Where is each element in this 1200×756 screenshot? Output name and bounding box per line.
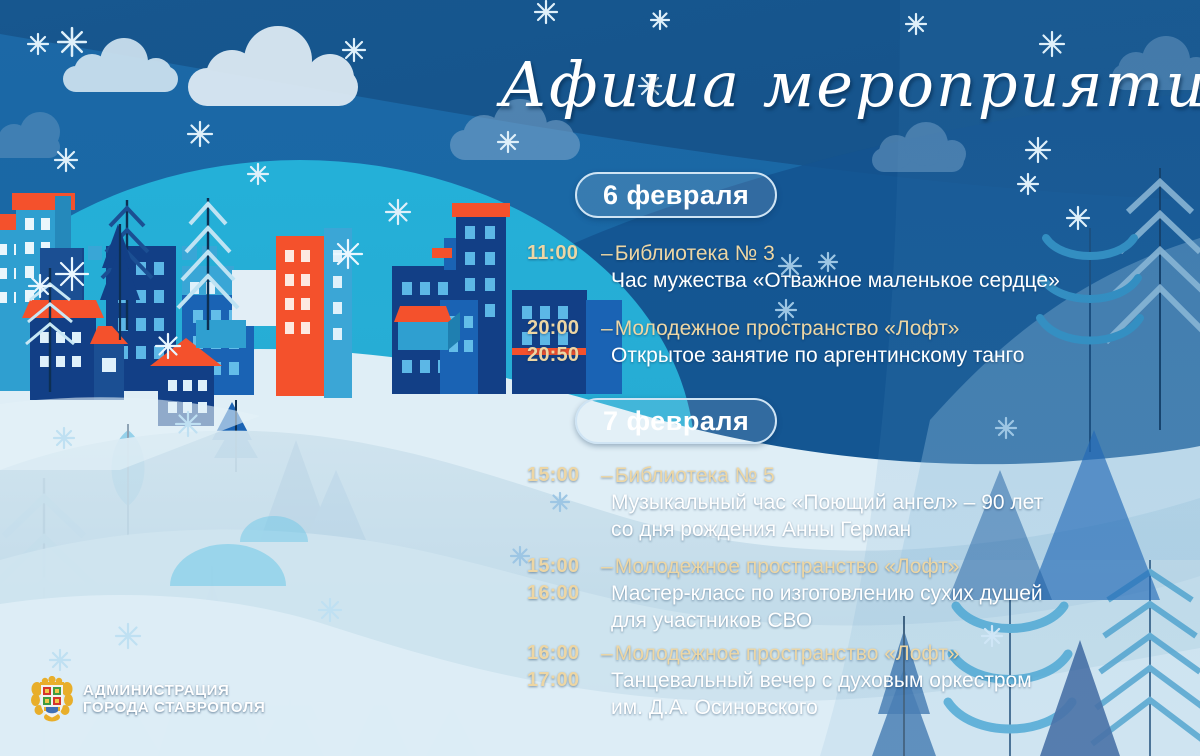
event-description-line: Открытое занятие по аргентинскому танго [611, 342, 1187, 369]
event-item: 15:00 –Библиотека № 5 Музыкальный час «П… [527, 462, 1187, 543]
event-description-line: Час мужества «Отважное маленькое сердце» [611, 267, 1187, 294]
event-description-line: для участников СВО [611, 607, 1187, 634]
event-venue-name: Библиотека № 5 [615, 464, 775, 487]
event-item: 15:00 16:00 –Молодежное пространство «Ло… [527, 553, 1187, 634]
event-times: 16:00 17:00 [527, 640, 601, 694]
event-body: –Молодежное пространство «Лофт» Мастер-к… [601, 553, 1187, 634]
event-body: –Молодежное пространство «Лофт» Танцевал… [601, 640, 1187, 721]
event-venue: –Библиотека № 5 [601, 462, 1187, 489]
event-venue: –Молодежное пространство «Лофт» [601, 640, 1187, 667]
event-time: 11:00 [527, 240, 601, 267]
snowflake-icon [156, 334, 180, 358]
date-badge-feb7[interactable]: 7 февраля [575, 398, 777, 444]
event-time: 17:00 [527, 667, 601, 694]
snowflake-icon [334, 240, 362, 268]
event-description-line: Мастер-класс по изготовлению сухих душей [611, 580, 1187, 607]
snowflake-icon [651, 11, 669, 29]
event-item: 20:00 20:50 –Молодежное пространство «Ло… [527, 315, 1187, 369]
event-description-line: Музыкальный час «Поющий ангел» – 90 лет [611, 489, 1187, 516]
snowflake-icon [1018, 174, 1038, 194]
event-times: 15:00 [527, 462, 601, 489]
event-description: Мастер-класс по изготовлению сухих душей… [601, 580, 1187, 634]
event-venue: –Библиотека № 3 [601, 240, 1187, 267]
event-description-line: им. Д.А. Осиновского [611, 694, 1187, 721]
event-venue: –Молодежное пространство «Лофт» [601, 553, 1187, 580]
administration-logo: АДМИНИСТРАЦИЯ ГОРОДА СТАВРОПОЛЯ [30, 676, 265, 722]
snowflake-icon [50, 650, 70, 670]
event-body: –Молодежное пространство «Лофт» Открытое… [601, 315, 1187, 369]
event-venue-name: Библиотека № 3 [615, 242, 775, 265]
event-times: 11:00 [527, 240, 601, 267]
snowflake-icon [1026, 138, 1050, 162]
event-time: 16:00 [527, 640, 601, 667]
snowflake-icon [176, 412, 200, 436]
event-time: 20:00 [527, 315, 601, 342]
date-badge-feb6[interactable]: 6 февраля [575, 172, 777, 218]
event-body: –Библиотека № 3 Час мужества «Отважное м… [601, 240, 1187, 294]
snowflake-icon [498, 132, 518, 152]
snowflake-icon [58, 28, 86, 56]
snowflake-icon [1067, 207, 1089, 229]
event-dash: – [601, 317, 613, 340]
snowflake-icon [906, 14, 926, 34]
event-description: Музыкальный час «Поющий ангел» – 90 лет … [601, 489, 1187, 543]
page-title: Афиша мероприятий [500, 52, 1180, 117]
snowflake-icon [996, 418, 1016, 438]
logo-line-2: ГОРОДА СТАВРОПОЛЯ [83, 699, 265, 716]
event-venue-name: Молодежное пространство «Лофт» [615, 555, 960, 578]
event-body: –Библиотека № 5 Музыкальный час «Поющий … [601, 462, 1187, 543]
event-description: Открытое занятие по аргентинскому танго [601, 342, 1187, 369]
snowflake-icon [55, 149, 77, 171]
event-venue-name: Молодежное пространство «Лофт» [615, 317, 960, 340]
event-times: 15:00 16:00 [527, 553, 601, 607]
event-description: Танцевальный вечер с духовым оркестром и… [601, 667, 1187, 721]
logo-line-1: АДМИНИСТРАЦИЯ [83, 682, 265, 699]
event-venue: –Молодежное пространство «Лофт» [601, 315, 1187, 342]
event-venue-name: Молодежное пространство «Лофт» [615, 642, 960, 665]
event-item: 16:00 17:00 –Молодежное пространство «Ло… [527, 640, 1187, 721]
snowflake-icon [56, 258, 88, 290]
event-description: Час мужества «Отважное маленькое сердце» [601, 267, 1187, 294]
event-description-line: со дня рождения Анны Герман [611, 516, 1187, 543]
snowflake-icon [343, 39, 365, 61]
logo-text: АДМИНИСТРАЦИЯ ГОРОДА СТАВРОПОЛЯ [83, 682, 265, 716]
snowflake-icon [29, 275, 51, 297]
event-time: 16:00 [527, 580, 601, 607]
event-dash: – [601, 555, 613, 578]
snowflake-icon [188, 122, 212, 146]
event-dash: – [601, 242, 613, 265]
snowflake-icon [116, 624, 140, 648]
event-dash: – [601, 642, 613, 665]
event-time: 15:00 [527, 462, 601, 489]
snowflake-icon [535, 1, 557, 23]
event-times: 20:00 20:50 [527, 315, 601, 369]
snowflake-icon [248, 164, 268, 184]
snowflake-icon [319, 599, 341, 621]
stavropol-coat-of-arms-icon [30, 676, 74, 722]
event-poster: Афиша мероприятий 6 февраля 11:00 –Библи… [0, 0, 1200, 756]
event-item: 11:00 –Библиотека № 3 Час мужества «Отва… [527, 240, 1187, 294]
snowflake-icon [386, 200, 410, 224]
event-time: 15:00 [527, 553, 601, 580]
event-time: 20:50 [527, 342, 601, 369]
snowflake-icon [28, 34, 48, 54]
event-dash: – [601, 464, 613, 487]
snowflake-icon [54, 428, 74, 448]
event-description-line: Танцевальный вечер с духовым оркестром [611, 667, 1187, 694]
